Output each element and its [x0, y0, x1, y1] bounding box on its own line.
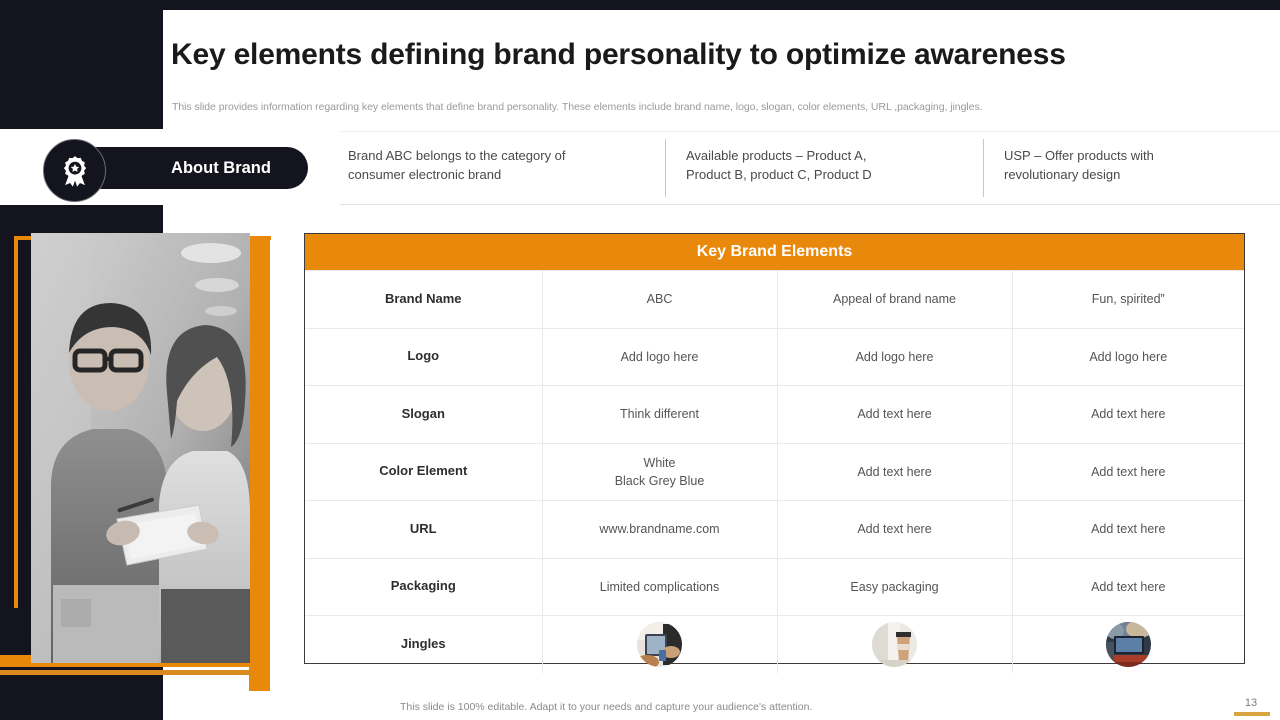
cell-url-col3: Add text here: [1012, 501, 1244, 559]
cell-color-element-col1: White Black Grey Blue: [542, 443, 777, 501]
cell-color-element-line2: Black Grey Blue: [543, 472, 777, 490]
slide-header: Key elements defining brand personality …: [163, 10, 1280, 129]
award-badge: [43, 139, 106, 202]
about-column-category-line2: consumer electronic brand: [348, 166, 651, 185]
page-number: 13: [1238, 697, 1264, 709]
cell-brand-name-col2: Appeal of brand name: [777, 271, 1012, 329]
cell-slogan-col3: Add text here: [1012, 386, 1244, 444]
cell-logo-col2: Add logo here: [777, 328, 1012, 386]
row-label-color-element: Color Element: [305, 443, 542, 501]
cell-slogan-col2: Add text here: [777, 386, 1012, 444]
table-title: Key Brand Elements: [305, 234, 1244, 270]
team-photo: [31, 233, 250, 663]
about-column-usp-line1: USP – Offer products with: [1004, 147, 1266, 166]
award-ribbon-icon: [58, 154, 92, 188]
row-label-jingles: Jingles: [305, 616, 542, 674]
about-column-usp: USP – Offer products with revolutionary …: [983, 139, 1280, 197]
about-brand-pill[interactable]: About Brand: [74, 147, 308, 189]
page-subtitle: This slide provides information regardin…: [172, 101, 983, 113]
cell-logo-col1: Add logo here: [542, 328, 777, 386]
row-label-url: URL: [305, 501, 542, 559]
cell-slogan-col1: Think different: [542, 386, 777, 444]
table-row: Jingles: [305, 616, 1244, 674]
cell-packaging-col2: Easy packaging: [777, 558, 1012, 616]
cell-url-col2: Add text here: [777, 501, 1012, 559]
about-brand-label: About Brand: [111, 159, 271, 178]
table-row: Color Element White Black Grey Blue Add …: [305, 443, 1244, 501]
cell-logo-col3: Add logo here: [1012, 328, 1244, 386]
table-row: Packaging Limited complications Easy pac…: [305, 558, 1244, 616]
cell-brand-name-col3: Fun, spirited”: [1012, 271, 1244, 329]
orange-frame-right-bar: [249, 236, 270, 691]
table-title-label: Key Brand Elements: [697, 243, 853, 261]
brand-elements-grid: Brand Name ABC Appeal of brand name Fun,…: [305, 270, 1244, 673]
cell-packaging-col3: Add text here: [1012, 558, 1244, 616]
cell-color-element-col3: Add text here: [1012, 443, 1244, 501]
row-label-logo: Logo: [305, 328, 542, 386]
strip-bottom-divider: [340, 204, 1280, 205]
about-column-products-line2: Product B, product C, Product D: [686, 166, 969, 185]
row-label-packaging: Packaging: [305, 558, 542, 616]
cell-jingles-col3: [1012, 616, 1244, 674]
cell-color-element-line1: White: [543, 454, 777, 472]
cell-packaging-col1: Limited complications: [542, 558, 777, 616]
about-column-products-line1: Available products – Product A,: [686, 147, 969, 166]
about-column-category-line1: Brand ABC belongs to the category of: [348, 147, 651, 166]
table-row: Logo Add logo here Add logo here Add log…: [305, 328, 1244, 386]
cell-color-element-col2: Add text here: [777, 443, 1012, 501]
table-row: URL www.brandname.com Add text here Add …: [305, 501, 1244, 559]
top-accent-bar: [0, 0, 1280, 10]
orange-frame-bottom-thin: [0, 670, 252, 675]
row-label-brand-name: Brand Name: [305, 271, 542, 329]
about-column-usp-line2: revolutionary design: [1004, 166, 1266, 185]
strip-top-divider: [340, 131, 1280, 132]
cell-jingles-col2: [777, 616, 1012, 674]
page-title: Key elements defining brand personality …: [171, 38, 1066, 72]
row-label-slogan: Slogan: [305, 386, 542, 444]
table-row: Slogan Think different Add text here Add…: [305, 386, 1244, 444]
laptop-photo-thumb: [1106, 622, 1151, 667]
tablet-photo-thumb: [637, 622, 682, 667]
key-brand-elements-table: Key Brand Elements Brand Name ABC Appeal…: [304, 233, 1245, 664]
cell-jingles-col1: [542, 616, 777, 674]
cell-brand-name-col1: ABC: [542, 271, 777, 329]
coffee-cup-photo-thumb: [872, 622, 917, 667]
page-number-underline: [1234, 712, 1270, 716]
orange-frame-left-edge: [14, 236, 18, 608]
about-column-category: Brand ABC belongs to the category of con…: [340, 139, 665, 197]
two-people-reviewing-document-photo: [31, 233, 250, 663]
cell-url-col1: www.brandname.com: [542, 501, 777, 559]
about-column-products: Available products – Product A, Product …: [665, 139, 983, 197]
table-row: Brand Name ABC Appeal of brand name Fun,…: [305, 271, 1244, 329]
about-brand-columns: Brand ABC belongs to the category of con…: [340, 139, 1280, 197]
footer-note: This slide is 100% editable. Adapt it to…: [400, 701, 812, 713]
